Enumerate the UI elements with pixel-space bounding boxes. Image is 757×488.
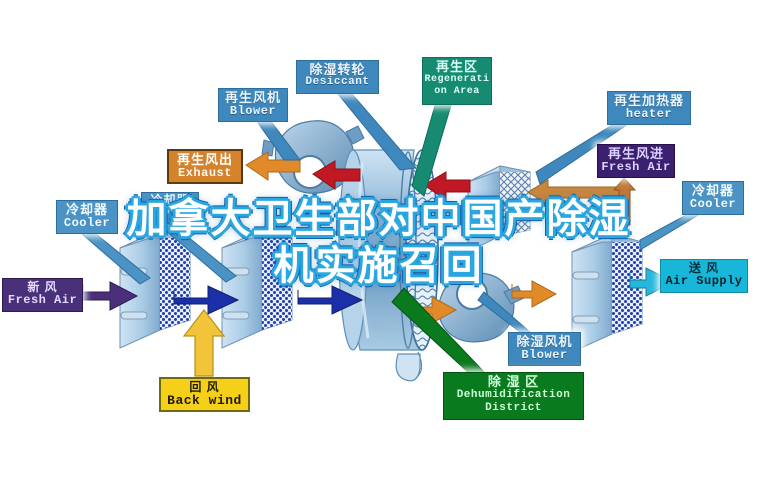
callout-dehumid-district-cn: 除 湿 区 [444, 375, 583, 389]
callout-regeneration-area-en: Regenerati on Area [423, 74, 491, 98]
callout-regeneration-area[interactable]: 再生区 Regenerati on Area [422, 57, 492, 105]
callout-regen-fresh-air-en: Fresh Air [598, 161, 674, 174]
callout-cooler-left-1[interactable]: 冷却器 Cooler [56, 200, 118, 234]
cooler-unit-2 [222, 230, 292, 348]
callout-cooler-left-2-en: Cooler [142, 207, 198, 219]
callout-air-supply-cn: 送 风 [661, 262, 747, 275]
blower-orange-arrow [512, 281, 556, 307]
callout-desiccant-wheel[interactable]: 除湿转轮 Desiccant [296, 60, 379, 94]
callout-cooler-right-cn: 冷却器 [683, 184, 743, 198]
callout-cooler-left-2[interactable]: 冷却器 Cooler [141, 192, 199, 224]
supply-coil-unit [572, 234, 642, 352]
callout-air-supply[interactable]: 送 风 Air Supply [660, 259, 748, 293]
diagram-canvas: XH [0, 0, 757, 488]
callout-back-wind-en: Back wind [161, 394, 248, 408]
callout-dehumid-blower[interactable]: 除湿风机 Blower [508, 332, 581, 366]
callout-dehumid-district[interactable]: 除 湿 区 Dehumidification District [443, 372, 584, 420]
regeneration-heater-unit [468, 166, 530, 252]
callout-back-wind[interactable]: 回 风 Back wind [159, 377, 250, 412]
callout-dehumid-district-en: Dehumidification District [444, 389, 583, 415]
callout-dehumid-blower-cn: 除湿风机 [509, 335, 580, 349]
callout-cooler-left-1-cn: 冷却器 [57, 203, 117, 217]
callout-fresh-air-left-en: Fresh Air [3, 294, 82, 307]
callout-cooler-right-en: Cooler [683, 198, 743, 211]
callout-desiccant-wheel-cn: 除湿转轮 [297, 63, 378, 77]
callout-air-supply-en: Air Supply [661, 275, 747, 288]
callout-regeneration-area-cn: 再生区 [423, 60, 491, 74]
callout-regen-heater[interactable]: 再生加热器 heater [607, 91, 691, 125]
callout-fresh-air-left-cn: 新 风 [3, 281, 82, 294]
callout-regen-blower-en: Blower [219, 105, 287, 118]
callout-regen-blower-cn: 再生风机 [219, 91, 287, 105]
callout-exhaust[interactable]: 再生风出 Exhaust [167, 149, 243, 184]
callout-regen-heater-en: heater [608, 108, 690, 121]
svg-text:XH: XH [370, 321, 385, 333]
callout-cooler-left-1-en: Cooler [57, 217, 117, 230]
callout-fresh-air-left[interactable]: 新 风 Fresh Air [2, 278, 83, 312]
fresh-air-intake-arrow [614, 178, 635, 225]
heater-orange-arrow [528, 180, 625, 205]
callout-back-wind-cn: 回 风 [161, 381, 248, 394]
callout-cooler-left-2-cn: 冷却器 [142, 194, 198, 207]
callout-regen-blower[interactable]: 再生风机 Blower [218, 88, 288, 122]
callout-regen-heater-cn: 再生加热器 [608, 94, 690, 108]
callout-regen-fresh-air[interactable]: 再生风进 Fresh Air [597, 144, 675, 178]
callout-exhaust-en: Exhaust [169, 167, 241, 180]
callout-desiccant-wheel-en: Desiccant [297, 77, 378, 89]
callout-cooler-right[interactable]: 冷却器 Cooler [682, 181, 744, 215]
callout-exhaust-cn: 再生风出 [169, 153, 241, 167]
callout-regen-fresh-air-cn: 再生风进 [598, 147, 674, 161]
callout-dehumid-blower-en: Blower [509, 349, 580, 362]
cooler-unit-1 [120, 230, 190, 348]
